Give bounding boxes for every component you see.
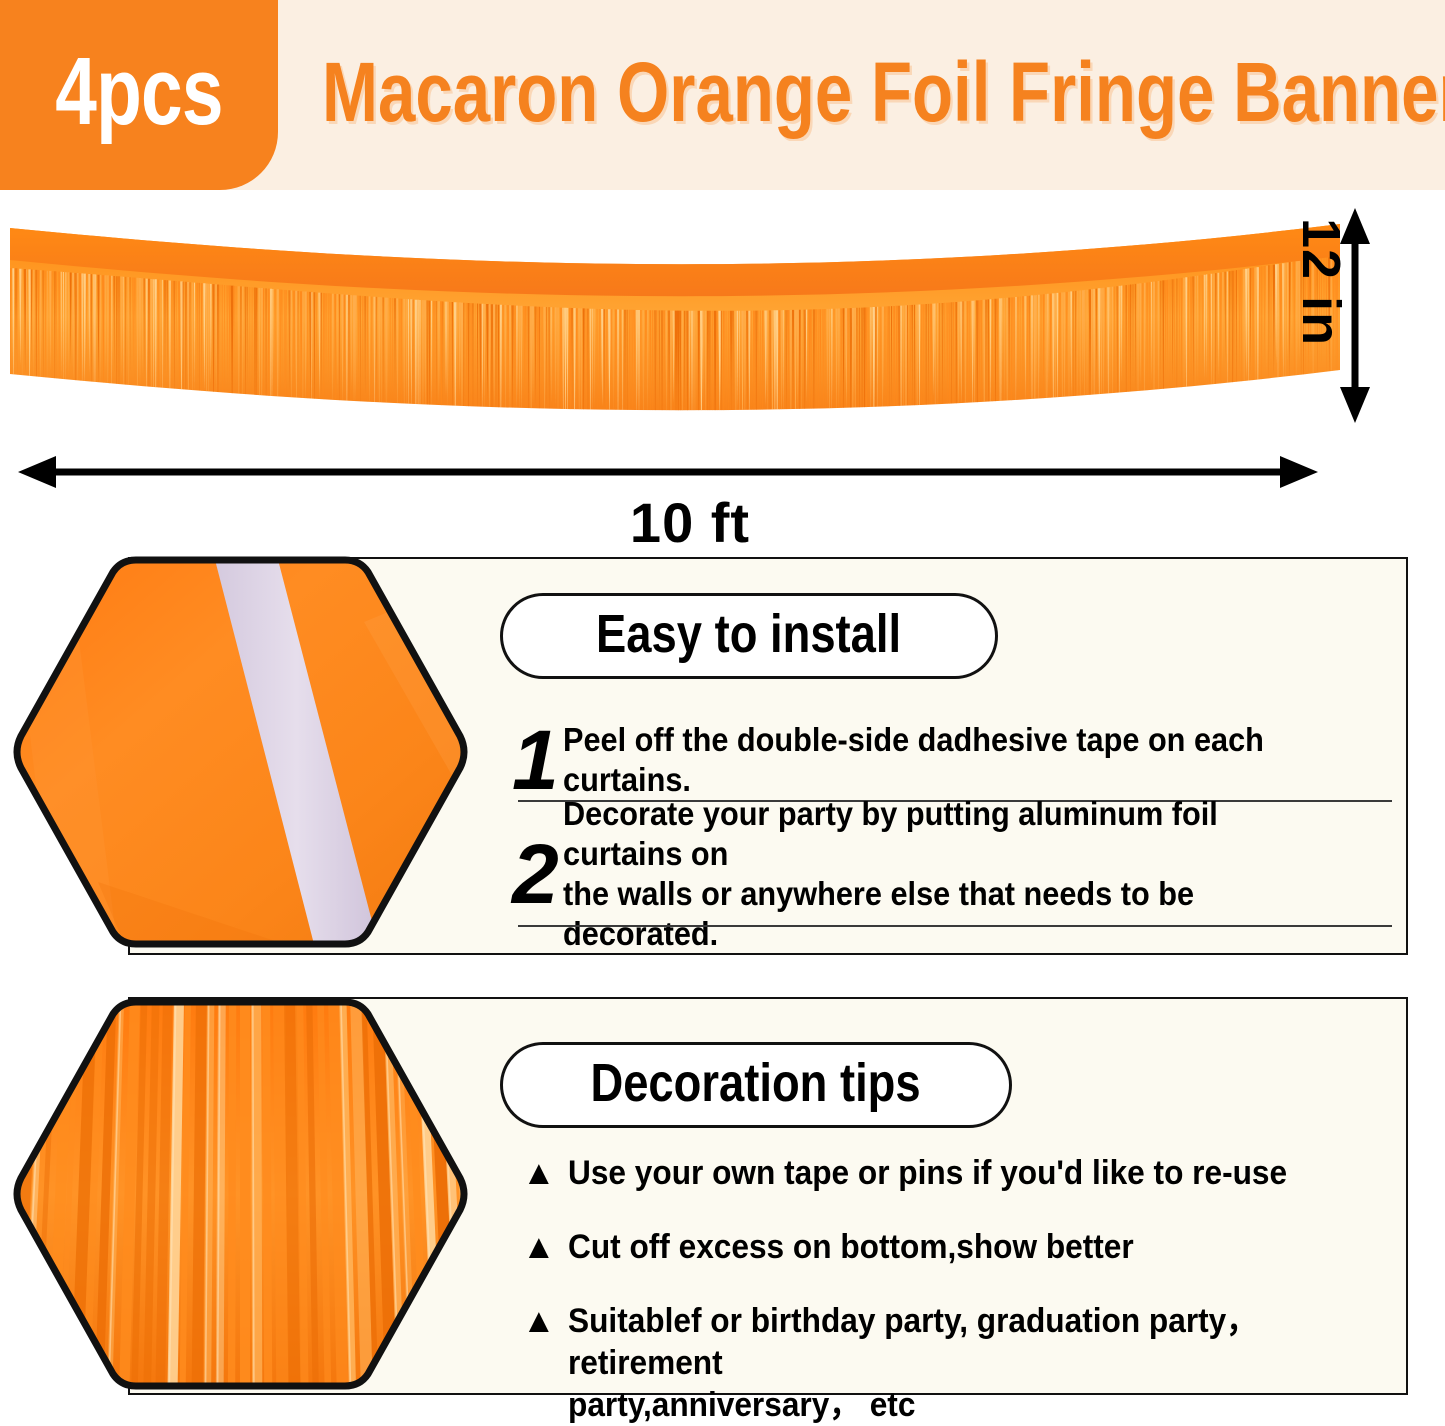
install-step-2-number: 2 <box>512 840 559 909</box>
triangle-bullet-icon: ▲ <box>522 1300 556 1343</box>
install-step-1: 1 Peel off the double-side dadhesive tap… <box>512 718 1392 802</box>
install-step-2-line-2: the walls or anywhere else that needs to… <box>563 875 1194 952</box>
install-heading-label: Easy to install <box>596 607 901 666</box>
hero-section: 10 ft 12 in <box>0 190 1445 540</box>
tip-item-2-text: Cut off excess on bottom,show better <box>568 1226 1134 1268</box>
page-title: Macaron Orange Foil Fringe Banner <box>322 48 1194 136</box>
triangle-bullet-icon: ▲ <box>522 1226 556 1269</box>
triangle-bullet-icon: ▲ <box>522 1152 556 1195</box>
tip-item-3: ▲ Suitablef or birthday party, graduatio… <box>522 1300 1402 1426</box>
tip-item-3-line-2: party,anniversary， etc <box>568 1386 915 1424</box>
tips-heading-pill: Decoration tips <box>500 1042 1012 1128</box>
foil-adhesive-tape-closeup-photo <box>8 552 473 952</box>
tip-item-1-text: Use your own tape or pins if you'd like … <box>568 1152 1287 1194</box>
tip-item-3-text: Suitablef or birthday party, graduation … <box>568 1300 1344 1426</box>
install-step-2-divider <box>518 925 1392 927</box>
fringe-banner-illustration <box>10 220 1340 435</box>
pieces-count-badge: 4pcs <box>0 0 278 190</box>
install-step-1-text: Peel off the double-side dadhesive tape … <box>563 720 1334 801</box>
pieces-count-label: 4pcs <box>31 0 248 190</box>
install-step-2: 2 Decorate your party by putting aluminu… <box>512 822 1392 926</box>
tip-item-3-line-1: Suitablef or birthday party, graduation … <box>568 1302 1258 1382</box>
install-step-2-text: Decorate your party by putting aluminum … <box>563 794 1334 955</box>
install-heading-pill: Easy to install <box>500 593 998 679</box>
tips-heading-label: Decoration tips <box>591 1056 921 1115</box>
width-dimension-arrow <box>18 455 1318 489</box>
install-step-2-line-1: Decorate your party by putting aluminum … <box>563 795 1218 872</box>
banner-photo <box>10 220 1340 435</box>
tip-item-1: ▲ Use your own tape or pins if you'd lik… <box>522 1152 1402 1195</box>
orange-foil-fringe-closeup-photo <box>8 994 473 1394</box>
height-dimension-label: 12 in <box>1290 218 1352 418</box>
install-step-1-number: 1 <box>512 726 559 795</box>
width-dimension-label: 10 ft <box>560 490 820 555</box>
tip-item-2: ▲ Cut off excess on bottom,show better <box>522 1226 1402 1269</box>
